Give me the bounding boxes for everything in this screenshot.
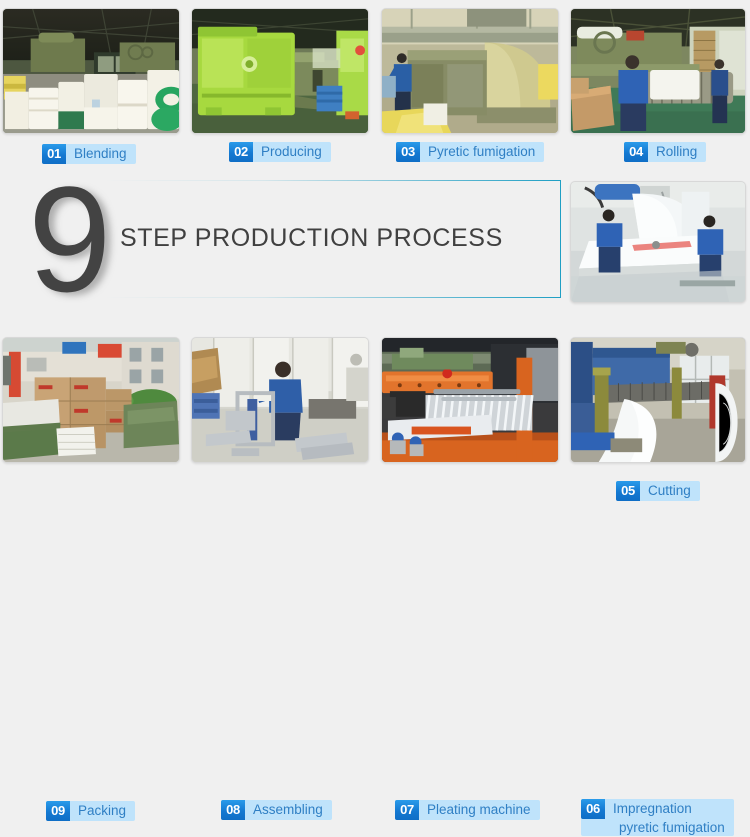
step-number-03: 03 [396,142,420,162]
photo-cutting[interactable] [570,181,746,303]
photo-blending[interactable] [2,8,180,134]
step-text-09: Packing [70,801,126,820]
photo-producing[interactable] [191,8,369,134]
photo-rolling[interactable] [570,8,746,134]
production-process-infographic: 01 Blending [0,0,750,515]
photo-pleating-machine[interactable] [381,337,559,463]
step-label-05[interactable]: 05 Cutting [616,481,700,501]
step-number-04: 04 [624,142,648,162]
step-text-03: Pyretic fumigation [420,142,535,161]
photo-impregnation[interactable] [570,337,746,463]
banner-heading: STEP PRODUCTION PROCESS [120,224,503,253]
step-number-08: 08 [221,800,245,820]
step-text-04: Rolling [648,142,697,161]
step-text-06-line1: Impregnation [613,801,692,816]
step-label-06[interactable]: 06 Impregnation pyretic fumigation [581,799,734,836]
step-text-02: Producing [253,142,322,161]
step-text-07: Pleating machine [419,800,531,819]
step-text-06: Impregnation pyretic fumigation [605,799,725,837]
step-label-03[interactable]: 03 Pyretic fumigation [396,142,544,162]
photo-packing[interactable] [2,337,180,463]
step-text-05: Cutting [640,481,691,500]
photo-pyretic-fumigation[interactable] [381,8,559,134]
step-number-02: 02 [229,142,253,162]
step-number-07: 07 [395,800,419,820]
step-number-05: 05 [616,481,640,501]
step-label-04[interactable]: 04 Rolling [624,142,706,162]
step-text-08: Assembling [245,800,323,819]
banner: 9 STEP PRODUCTION PROCESS [0,172,563,307]
step-label-02[interactable]: 02 Producing [229,142,331,162]
photo-assembling[interactable] [191,337,369,463]
step-label-08[interactable]: 08 Assembling [221,800,332,820]
step-label-09[interactable]: 09 Packing [46,801,135,821]
step-number-09: 09 [46,801,70,821]
step-text-06-line2: pyretic fumigation [613,818,725,837]
step-label-07[interactable]: 07 Pleating machine [395,800,540,820]
banner-number: 9 [28,164,109,314]
step-number-06: 06 [581,799,605,819]
